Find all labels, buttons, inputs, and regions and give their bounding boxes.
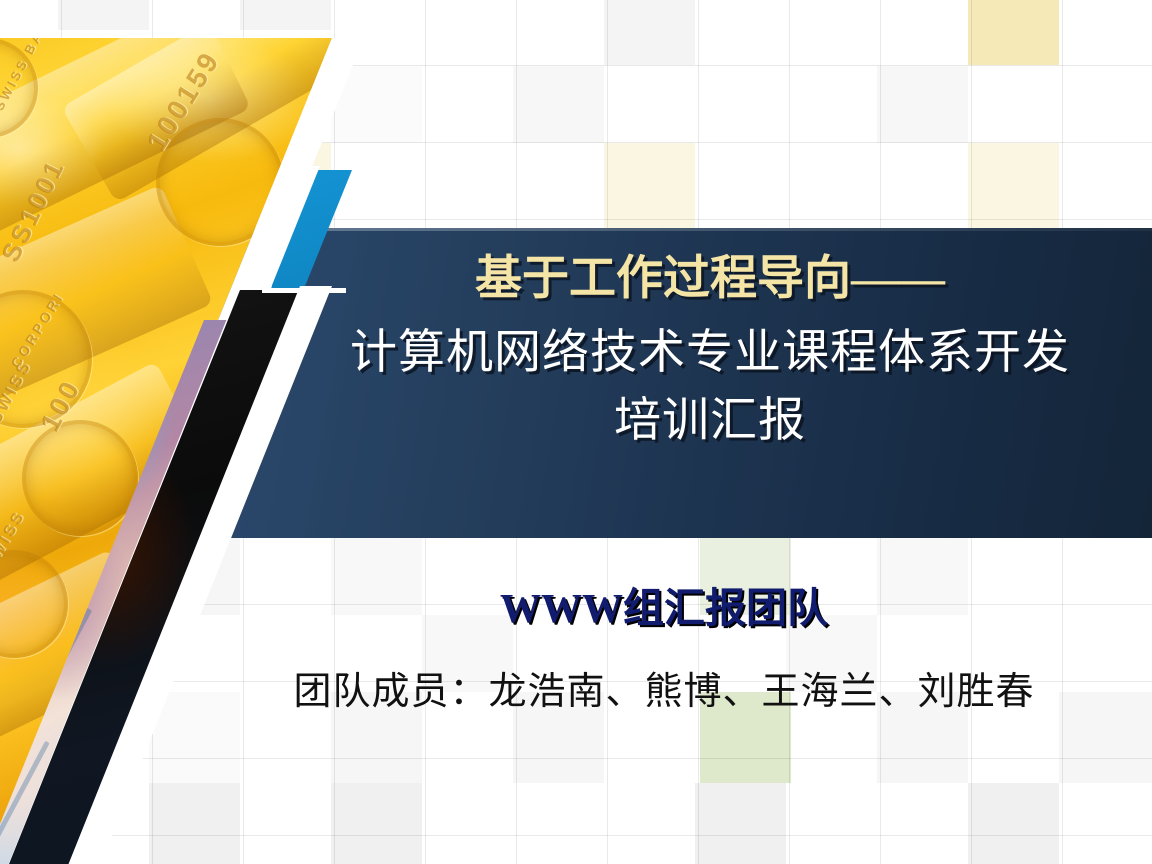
title-decoration-tick	[262, 288, 346, 293]
team-members: 团队成员：龙浩南、熊博、王海兰、刘胜春	[176, 664, 1152, 720]
title-line-2: 计算机网络技术专业课程体系开发	[268, 318, 1152, 388]
team-name: WWW组汇报团队	[176, 580, 1152, 636]
title-line-3: 培训汇报	[268, 388, 1152, 454]
presentation-title-slide: SS1001100159SWISS BANK100SWISSCORPORISWI…	[0, 0, 1152, 864]
title-line-1: 基于工作过程导向——	[268, 248, 1152, 310]
slide-subtitle: WWW组汇报团队 团队成员：龙浩南、熊博、王海兰、刘胜春	[176, 580, 1152, 720]
slide-title: 基于工作过程导向—— 计算机网络技术专业课程体系开发 培训汇报	[268, 248, 1152, 454]
